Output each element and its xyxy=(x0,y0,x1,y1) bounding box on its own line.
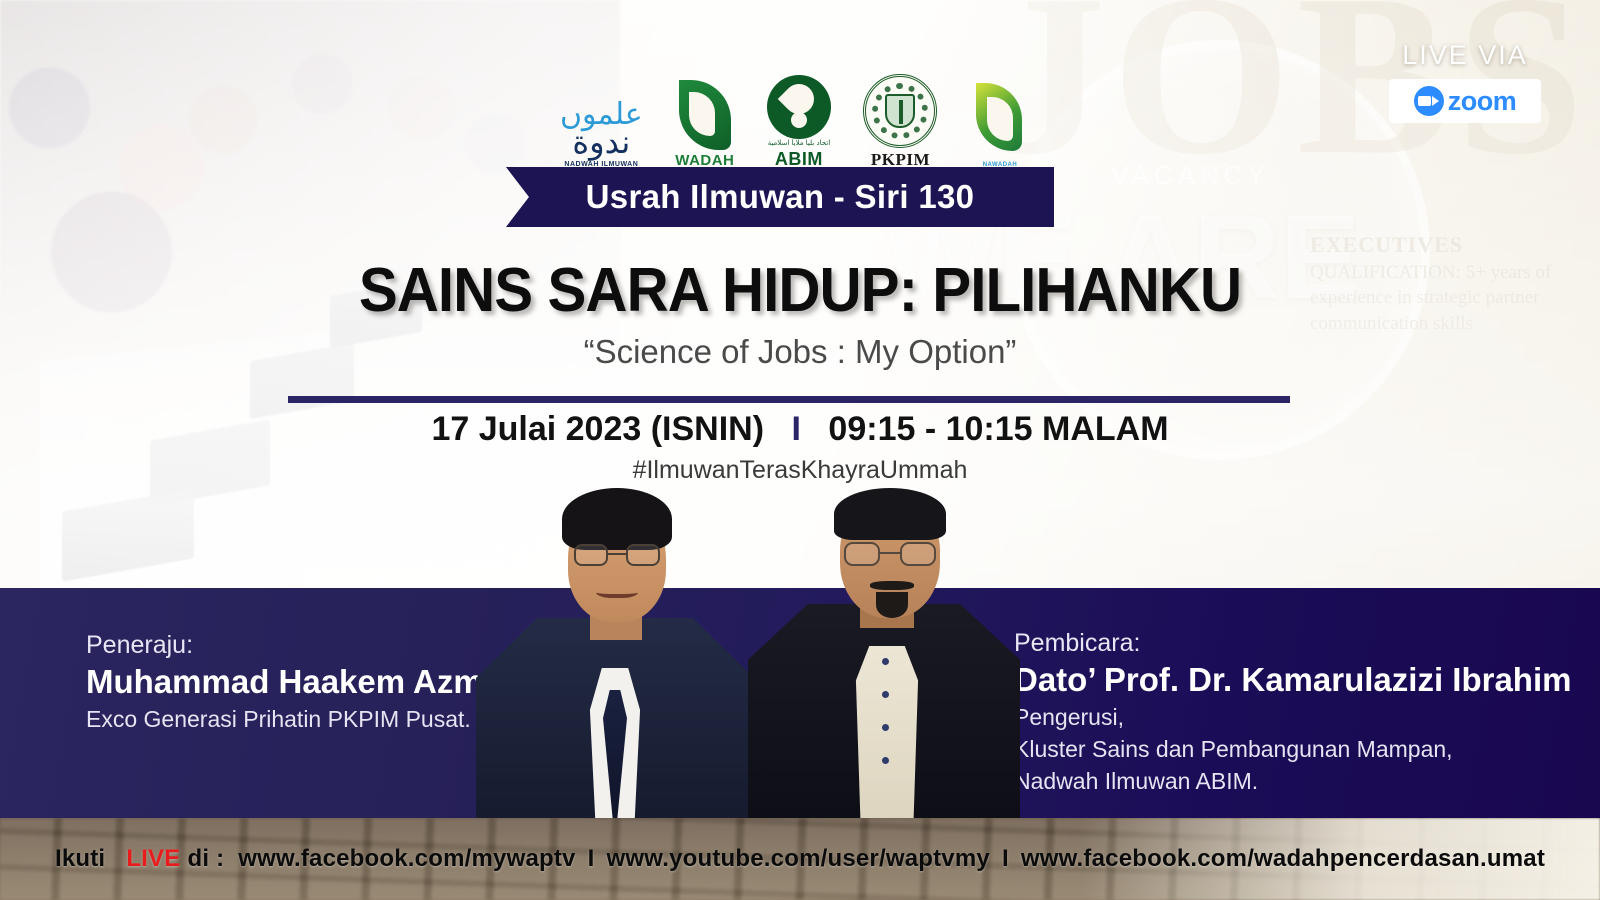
moderator-affiliation: Exco Generasi Prihatin PKPIM Pusat. xyxy=(86,704,516,736)
video-camera-icon xyxy=(1414,86,1444,116)
zoom-logo-badge: zoom xyxy=(1389,79,1541,123)
nadwah-arabic-bottom: ندوة xyxy=(560,126,643,158)
live-via-label: LIVE VIA xyxy=(1365,40,1565,71)
moderator-role: Peneraju: xyxy=(86,630,516,661)
footer-pipe-2: I xyxy=(1002,845,1009,873)
series-label: Usrah Ilmuwan - Siri 130 xyxy=(586,178,975,216)
logo-nawadah: NAWADAH xyxy=(970,77,1030,168)
wadah-caption: WADAH xyxy=(675,153,734,168)
schedule-separator: I xyxy=(792,410,801,448)
speaker-affiliation-3: Nadwah Ilmuwan ABIM. xyxy=(1014,766,1534,798)
moderator-portrait xyxy=(470,488,760,818)
event-hashtag: #IlmuwanTerasKhayraUmmah xyxy=(0,456,1600,485)
speaker-name: Dato’ Prof. Dr. Kamarulazizi Ibrahim xyxy=(1014,659,1534,702)
event-poster: JOBS VACANCY WE ARE EXECUTIVES QUALIFICA… xyxy=(0,0,1600,900)
footer-pipe-1: I xyxy=(588,845,595,873)
speaker-block: Pembicara: Dato’ Prof. Dr. Kamarulazizi … xyxy=(1014,628,1534,797)
footer-links: Ikuti LIVE di : www.facebook.com/mywaptv… xyxy=(0,818,1600,900)
eyeglasses-icon xyxy=(844,542,936,566)
speaker-role: Pembicara: xyxy=(1014,628,1534,659)
speaker-affiliation-2: Kluster Sains dan Pembangunan Mampan, xyxy=(1014,734,1534,766)
footer-lead: Ikuti xyxy=(55,845,105,873)
live-via-block: LIVE VIA zoom xyxy=(1365,40,1565,123)
abim-arabic: اتحاد بليا ملايا اسلامية xyxy=(768,139,830,147)
abim-caption: ABIM xyxy=(775,150,823,168)
series-ribbon-inner: Usrah Ilmuwan - Siri 130 xyxy=(506,167,1054,227)
speaker-affiliation-1: Pengerusi, xyxy=(1014,702,1534,734)
poster-subtitle: “Science of Jobs : My Option” xyxy=(0,333,1600,371)
wadah-mark xyxy=(679,80,731,150)
series-ribbon: Usrah Ilmuwan - Siri 130 xyxy=(506,167,1054,227)
moderator-block: Peneraju: Muhammad Haakem Azman Exco Gen… xyxy=(86,630,516,736)
footer-link-youtube-waptv[interactable]: www.youtube.com/user/waptvmy xyxy=(606,845,989,873)
divider-rule xyxy=(288,396,1290,403)
pkpim-caption: PKPIM xyxy=(871,151,930,168)
logo-abim: اتحاد بليا ملايا اسلامية ABIM xyxy=(767,75,831,168)
nadwah-caption: NADWAH ILMUWAN xyxy=(564,161,638,168)
moderator-name: Muhammad Haakem Azman xyxy=(86,661,516,704)
eyeglasses-icon xyxy=(574,544,660,566)
organizer-logo-row: علموں ندوة NADWAH ILMUWAN WADAH اتحاد بل… xyxy=(560,28,1030,168)
schedule-line: 17 Julai 2023 (ISNIN) I 09:15 - 10:15 MA… xyxy=(0,410,1600,449)
zoom-wordmark: zoom xyxy=(1448,86,1517,117)
poster-title: SAINS SARA HIDUP: PILIHANKU xyxy=(48,255,1552,326)
pkpim-mark xyxy=(863,74,937,148)
speaker-portrait xyxy=(748,488,1033,818)
nawadah-mark xyxy=(970,77,1030,159)
event-date: 17 Julai 2023 (ISNIN) xyxy=(431,410,764,448)
footer-bar: Ikuti LIVE di : www.facebook.com/mywaptv… xyxy=(0,818,1600,900)
logo-pkpim: PKPIM xyxy=(863,74,937,168)
abim-mark xyxy=(767,75,831,139)
footer-link-facebook-waptv[interactable]: www.facebook.com/mywaptv xyxy=(238,845,575,873)
logo-nadwah-ilmuwan: علموں ندوة NADWAH ILMUWAN xyxy=(560,100,643,168)
event-time: 09:15 - 10:15 MALAM xyxy=(828,410,1168,448)
logo-wadah: WADAH xyxy=(675,80,734,168)
nadwah-ilmuwan-mark: علموں ندوة xyxy=(560,100,643,158)
footer-di: di : xyxy=(187,845,224,873)
footer-link-facebook-wadah[interactable]: www.facebook.com/wadahpencerdasan.umat xyxy=(1021,845,1545,873)
footer-live-word: LIVE xyxy=(126,845,180,873)
